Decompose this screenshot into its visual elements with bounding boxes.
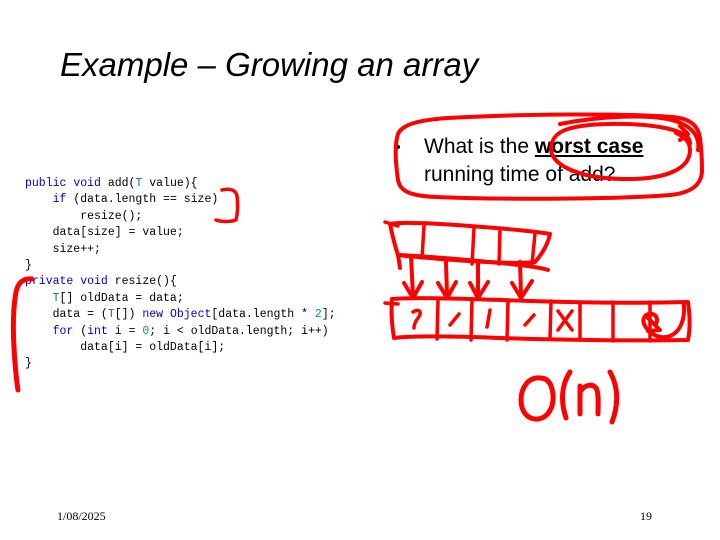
ink-top-array-tick bbox=[385, 222, 398, 226]
code-line: private void resize(){ bbox=[25, 275, 177, 288]
code-line: for (int i = 0; i < oldData.length; i++) bbox=[25, 325, 329, 338]
complexity-label: O(n) bbox=[518, 365, 628, 415]
ink-bottom-array-divider bbox=[550, 301, 551, 339]
ink-bottom-array-divider bbox=[507, 301, 508, 340]
ink-arrow-down bbox=[512, 262, 532, 298]
code-line: } bbox=[25, 259, 32, 272]
page-title: Example – Growing an array bbox=[60, 45, 660, 85]
ink-mid-array-outline bbox=[398, 255, 548, 270]
code-line: if (data.length == size) bbox=[25, 193, 218, 206]
footer-date: 1/08/2025 bbox=[57, 509, 106, 524]
ink-arrow-down bbox=[404, 256, 422, 298]
code-line: } bbox=[25, 357, 32, 370]
slide-canvas: Example – Growing an array public void a… bbox=[0, 0, 720, 540]
ink-arrowhead-last-cell bbox=[646, 316, 660, 331]
ink-bottom-array-tick bbox=[385, 303, 398, 304]
code-line: data[size] = value; bbox=[25, 226, 184, 239]
ink-mid-array-left bbox=[398, 255, 400, 268]
ink-top-array-divider bbox=[472, 228, 474, 264]
ink-cell-mark-slash bbox=[413, 310, 420, 328]
bullet-marker-icon bbox=[396, 145, 400, 149]
bullet-text: What is the worst case running time of a… bbox=[424, 133, 696, 189]
ink-arrow-last-cell bbox=[643, 305, 684, 337]
ink-top-array-divider bbox=[499, 230, 500, 264]
code-line: public void add(T value){ bbox=[25, 177, 198, 190]
ink-cell-mark-slash bbox=[525, 315, 534, 325]
bullet-emphasis: worst case bbox=[535, 135, 644, 158]
code-line: T[] oldData = data; bbox=[25, 292, 184, 305]
ink-top-array-divider bbox=[532, 234, 535, 264]
code-line: data[i] = oldData[i]; bbox=[25, 341, 225, 354]
code-line: data = (T[]) new Object[data.length * 2]… bbox=[25, 308, 336, 321]
bullet-text-before: What is the bbox=[424, 135, 535, 158]
footer-page-number: 19 bbox=[640, 509, 670, 524]
ink-cell-mark-slash bbox=[450, 314, 459, 325]
ink-bottom-array-divider bbox=[437, 301, 438, 339]
ink-bottom-array-divider bbox=[471, 300, 472, 340]
ink-bottom-array-outline bbox=[392, 298, 690, 340]
code-line: size++; bbox=[25, 243, 101, 256]
ink-arrow-down bbox=[470, 264, 488, 298]
ink-cell-mark-x bbox=[558, 311, 572, 330]
code-line: resize(); bbox=[25, 210, 142, 223]
ink-top-array-outline bbox=[390, 223, 550, 263]
ink-top-array-divider bbox=[422, 226, 424, 258]
code-block: public void add(T value){ if (data.lengt… bbox=[25, 176, 336, 373]
ink-cell-mark-slash bbox=[487, 310, 490, 327]
ink-arrow-down bbox=[438, 262, 456, 298]
bullet-text-after: running time of add? bbox=[424, 163, 615, 186]
